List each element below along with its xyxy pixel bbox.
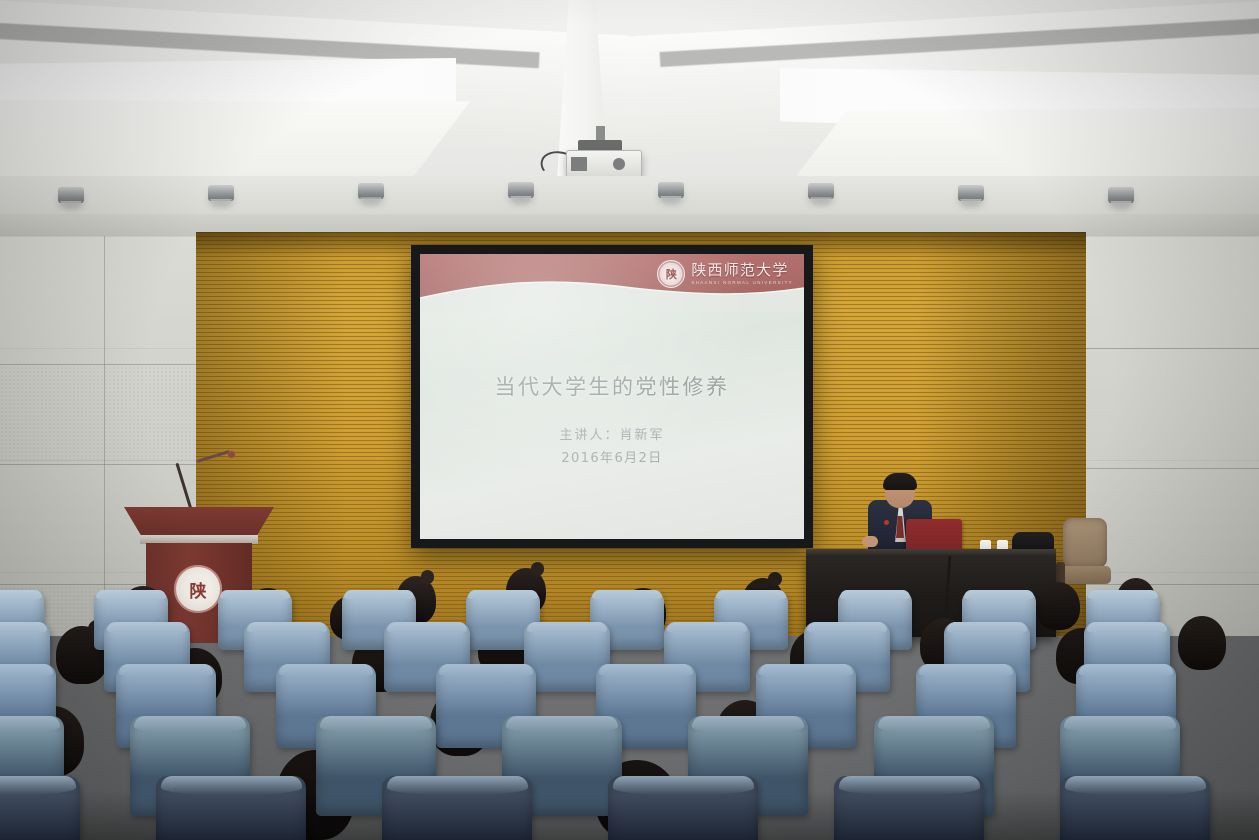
audience-head xyxy=(1178,616,1226,670)
spotlight-icon xyxy=(1108,187,1134,203)
projector-vent xyxy=(571,157,587,171)
seat-headrest-rim xyxy=(119,664,213,678)
seat-headrest-rim xyxy=(613,776,754,795)
microphone-stem xyxy=(175,463,192,512)
seat-headrest-rim xyxy=(320,716,433,733)
auditorium-seat xyxy=(834,776,984,840)
slide-presenter: 主讲人：肖新军 xyxy=(420,424,804,443)
seat-headrest-rim xyxy=(161,776,302,795)
auditorium-seat xyxy=(0,776,80,840)
spotlight-icon xyxy=(208,185,234,201)
perforated-panel xyxy=(0,366,196,462)
seat-headrest-rim xyxy=(1079,664,1173,678)
seat-headrest-rim xyxy=(0,776,76,795)
spotlight-icon xyxy=(658,182,684,198)
seat-headrest-rim xyxy=(387,622,468,634)
ceiling-reveal-left xyxy=(0,100,470,178)
seat-headrest-rim xyxy=(1087,622,1168,634)
seat-headrest-rim xyxy=(964,590,1034,600)
seat-headrest-rim xyxy=(919,664,1013,678)
seat-headrest-rim xyxy=(1064,716,1177,733)
university-name-cn: 陕西师范大学 xyxy=(691,263,793,278)
audience-hair-bun xyxy=(531,562,545,576)
speaker-lapel-pin xyxy=(884,520,889,525)
seat-headrest-rim xyxy=(527,622,608,634)
speaker-hand xyxy=(862,536,878,547)
seat-headrest-rim xyxy=(840,590,910,600)
university-logo: 陕 陕西师范大学 SHAANXI NORMAL UNIVERSITY xyxy=(657,260,793,288)
spotlight-icon xyxy=(508,182,534,198)
university-logo-text: 陕西师范大学 SHAANXI NORMAL UNIVERSITY xyxy=(691,263,793,285)
projector-lens xyxy=(613,158,625,170)
speaker-hair xyxy=(883,473,917,490)
seat-headrest-rim xyxy=(592,590,662,600)
seat-headrest-rim xyxy=(0,590,42,600)
seat-headrest-rim xyxy=(506,716,619,733)
seat-headrest-rim xyxy=(387,776,528,795)
audience-hair-bun xyxy=(768,572,782,586)
audience-head xyxy=(1036,582,1080,630)
seat-headrest-rim xyxy=(0,664,53,678)
spotlight-icon xyxy=(58,187,84,203)
seat-headrest-rim xyxy=(759,664,853,678)
auditorium-seat xyxy=(608,776,758,840)
seat-headrest-rim xyxy=(878,716,991,733)
seat-headrest-rim xyxy=(0,622,47,634)
auditorium-seat xyxy=(156,776,306,840)
seat-headrest-rim xyxy=(1065,776,1206,795)
seat-headrest-rim xyxy=(667,622,748,634)
ceiling-soffit xyxy=(0,176,1259,218)
seat-headrest-rim xyxy=(96,590,166,600)
seat-headrest-rim xyxy=(279,664,373,678)
projector-icon xyxy=(566,150,642,178)
slide-title: 当代大学生的党性修养 xyxy=(420,371,804,401)
seat-headrest-rim xyxy=(344,590,414,600)
ceiling-reveal-right xyxy=(790,108,1259,184)
panel-seam xyxy=(1086,468,1259,469)
seat-headrest-rim xyxy=(692,716,805,733)
seat-headrest-rim xyxy=(599,664,693,678)
university-seal-icon: 陕 xyxy=(657,260,685,288)
seat-headrest-rim xyxy=(947,622,1028,634)
projection-screen: 陕 陕西师范大学 SHAANXI NORMAL UNIVERSITY 当代大学生… xyxy=(411,245,813,548)
seat-headrest-rim xyxy=(807,622,888,634)
panel-seam xyxy=(1086,348,1259,349)
spotlight-icon xyxy=(358,183,384,199)
slide-date: 2016年6月2日 xyxy=(420,447,804,466)
seat-headrest-rim xyxy=(468,590,538,600)
seat-headrest-rim xyxy=(839,776,980,795)
audience-seating xyxy=(0,560,1259,840)
seat-headrest-rim xyxy=(134,716,247,733)
auditorium-seat xyxy=(382,776,532,840)
auditorium-seat xyxy=(1060,776,1210,840)
university-name-en: SHAANXI NORMAL UNIVERSITY xyxy=(691,281,793,285)
auditorium-photo: 陕 陕西师范大学 SHAANXI NORMAL UNIVERSITY 当代大学生… xyxy=(0,0,1259,840)
seat-headrest-rim xyxy=(716,590,786,600)
microphone-head xyxy=(228,451,235,458)
seat-headrest-rim xyxy=(1088,590,1158,600)
audience-hair-bun xyxy=(421,570,435,584)
seat-headrest-rim xyxy=(247,622,328,634)
seat-headrest-rim xyxy=(107,622,188,634)
ceiling xyxy=(0,0,1259,236)
lectern-top xyxy=(124,507,274,537)
spotlight-icon xyxy=(958,185,984,201)
slide-surface: 陕 陕西师范大学 SHAANXI NORMAL UNIVERSITY 当代大学生… xyxy=(420,254,804,539)
spotlight-icon xyxy=(808,183,834,199)
panel-seam xyxy=(0,364,196,365)
seat-headrest-rim xyxy=(220,590,290,600)
seat-headrest-rim xyxy=(439,664,533,678)
